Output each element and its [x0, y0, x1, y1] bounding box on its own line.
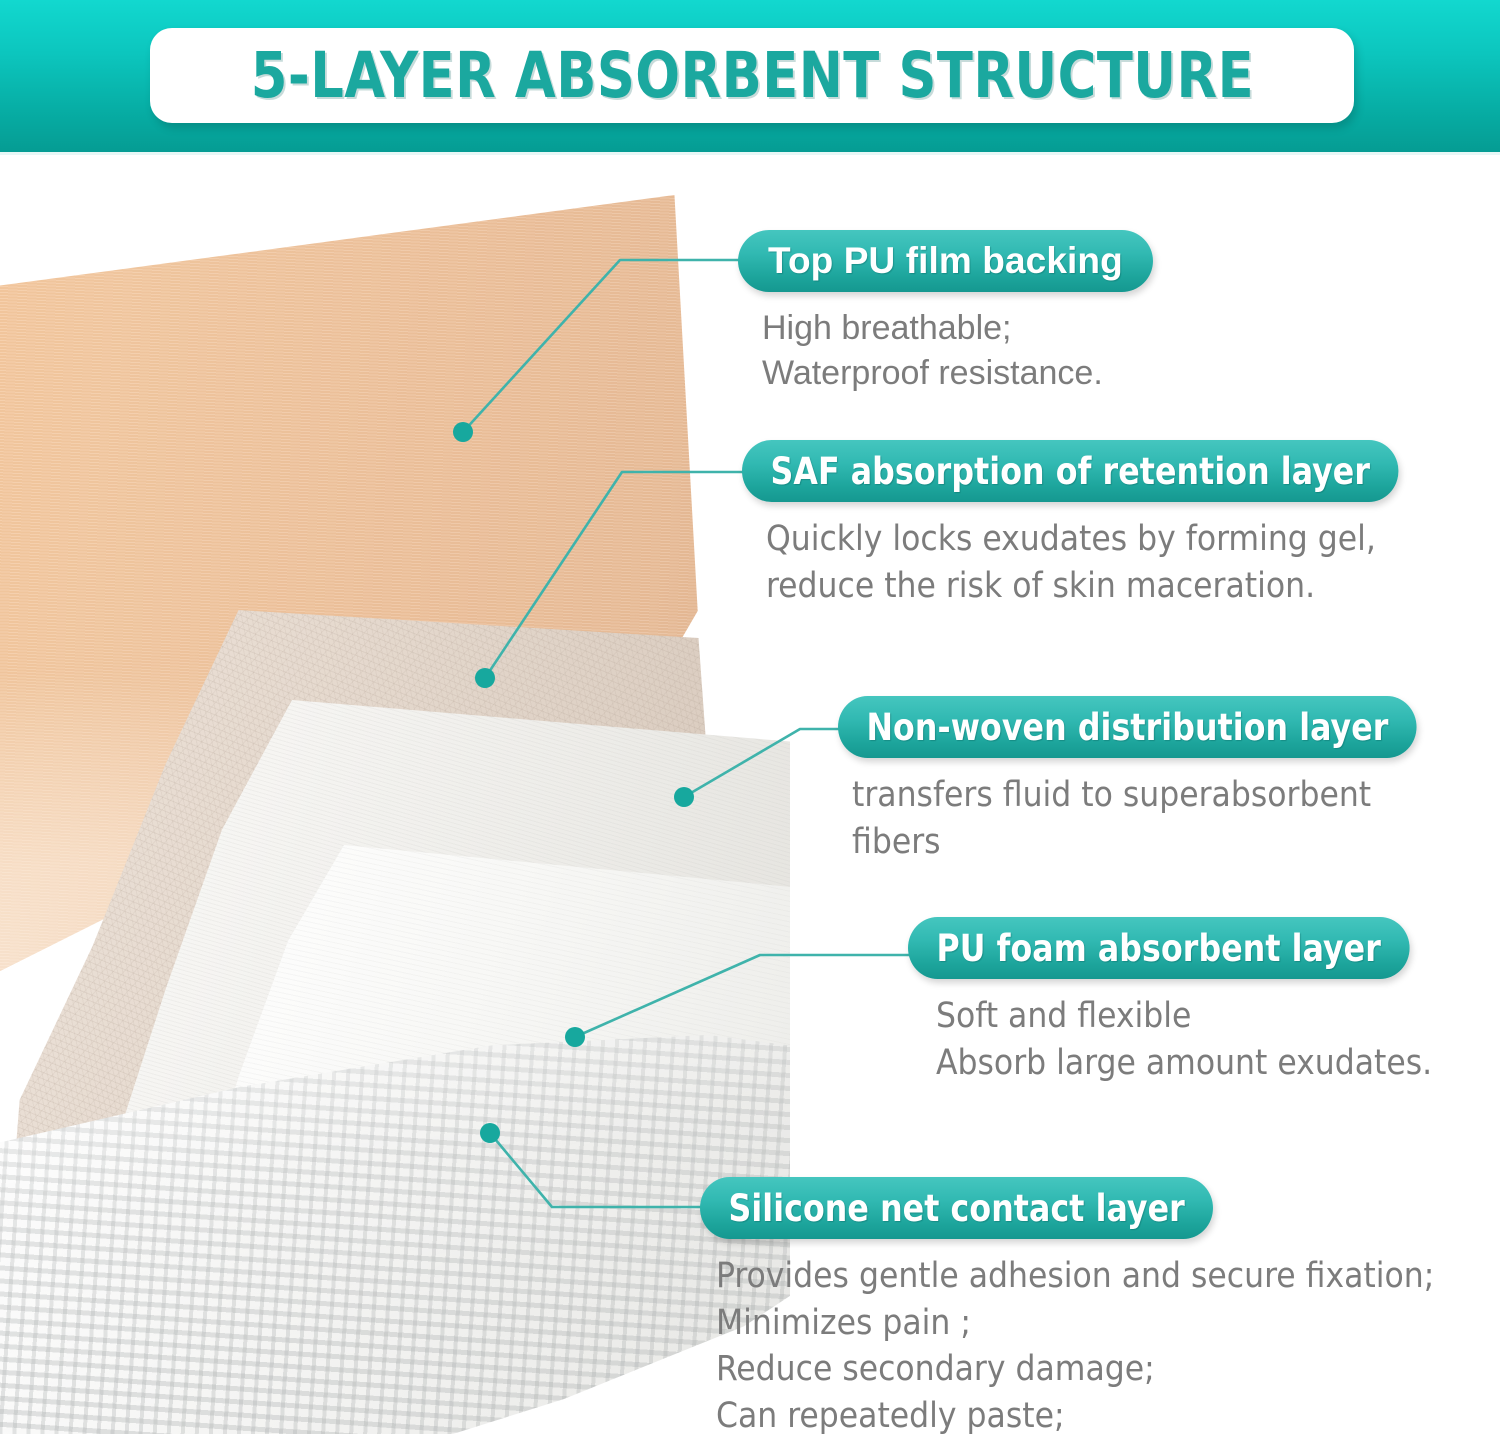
callout-description-5: Provides gentle adhesion and secure fixa…	[716, 1253, 1434, 1434]
callout-label-pill-4[interactable]: PU foam absorbent layer	[908, 917, 1409, 979]
callout-label-pill-5[interactable]: Silicone net contact layer	[700, 1177, 1213, 1239]
callout-description-1: High breathable; Waterproof resistance.	[762, 306, 1153, 396]
infographic-page: 5-LAYER ABSORBENT STRUCTURE Top PU film …	[0, 0, 1500, 1434]
callout-description-3: transfers fluid to superabsorbent fibers	[852, 772, 1447, 865]
callout-silicone-net-contact-layer: Silicone net contact layer Provides gent…	[700, 1177, 1434, 1434]
callout-label-pill-2[interactable]: SAF absorption of retention layer	[742, 440, 1399, 502]
product-photo	[0, 155, 790, 1434]
callout-label-pill-3[interactable]: Non-woven distribution layer	[838, 696, 1417, 758]
page-title: 5-LAYER ABSORBENT STRUCTURE	[250, 39, 1253, 112]
callout-description-4: Soft and flexible Absorb large amount ex…	[936, 993, 1436, 1086]
callout-non-woven-distribution-layer: Non-woven distribution layer transfers f…	[838, 696, 1447, 865]
header-banner: 5-LAYER ABSORBENT STRUCTURE	[0, 0, 1500, 152]
callout-label-pill-1[interactable]: Top PU film backing	[738, 230, 1153, 292]
callout-pu-foam-absorbent-layer: PU foam absorbent layer Soft and flexibl…	[908, 917, 1436, 1086]
callout-description-2: Quickly locks exudates by forming gel, r…	[766, 516, 1433, 609]
callout-top-pu-film-backing: Top PU film backing High breathable; Wat…	[738, 230, 1153, 396]
callout-saf-absorption-retention-layer: SAF absorption of retention layer Quickl…	[742, 440, 1433, 609]
title-plate: 5-LAYER ABSORBENT STRUCTURE	[150, 28, 1354, 123]
